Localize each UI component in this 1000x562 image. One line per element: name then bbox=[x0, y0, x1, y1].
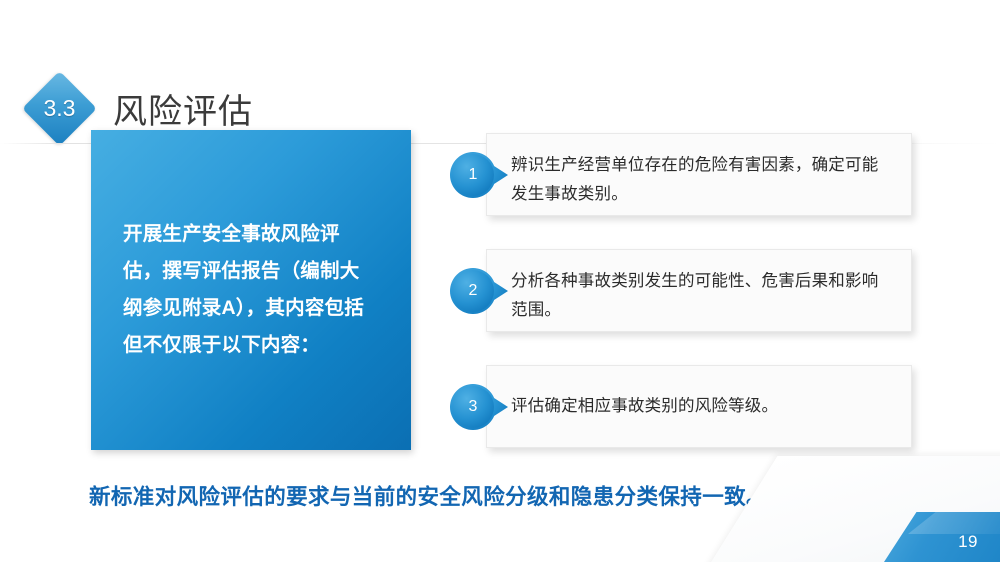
page-number: 19 bbox=[958, 532, 978, 552]
bottom-note: 新标准对风险评估的要求与当前的安全风险分级和隐患分类保持一致。 bbox=[89, 480, 768, 511]
slide-canvas: 3.3 风险评估 开展生产安全事故风险评估，撰写评估报告（编制大纲参见附录A），… bbox=[0, 0, 1000, 562]
callout-card-3: 评估确定相应事故类别的风险等级。 bbox=[486, 365, 912, 448]
callout-marker-1 bbox=[452, 152, 508, 198]
callout-card-2: 分析各种事故类别发生的可能性、危害后果和影响范围。 bbox=[486, 249, 912, 332]
intro-panel-text: 开展生产安全事故风险评估，撰写评估报告（编制大纲参见附录A），其内容包括但不仅限… bbox=[123, 216, 379, 364]
callout-text-3: 评估确定相应事故类别的风险等级。 bbox=[487, 366, 911, 438]
slide-header: 3.3 风险评估 bbox=[0, 40, 1000, 112]
callout-card-1: 辨识生产经营单位存在的危险有害因素，确定可能发生事故类别。 bbox=[486, 133, 912, 216]
page-title: 风险评估 bbox=[113, 90, 253, 134]
callout-text-2: 分析各种事故类别发生的可能性、危害后果和影响范围。 bbox=[487, 250, 911, 342]
callout-marker-3 bbox=[452, 384, 508, 430]
intro-panel: 开展生产安全事故风险评估，撰写评估报告（编制大纲参见附录A），其内容包括但不仅限… bbox=[91, 130, 411, 450]
section-number-label: 3.3 bbox=[33, 82, 86, 135]
callout-text-1: 辨识生产经营单位存在的危险有害因素，确定可能发生事故类别。 bbox=[487, 134, 911, 226]
callout-marker-2 bbox=[452, 268, 508, 314]
